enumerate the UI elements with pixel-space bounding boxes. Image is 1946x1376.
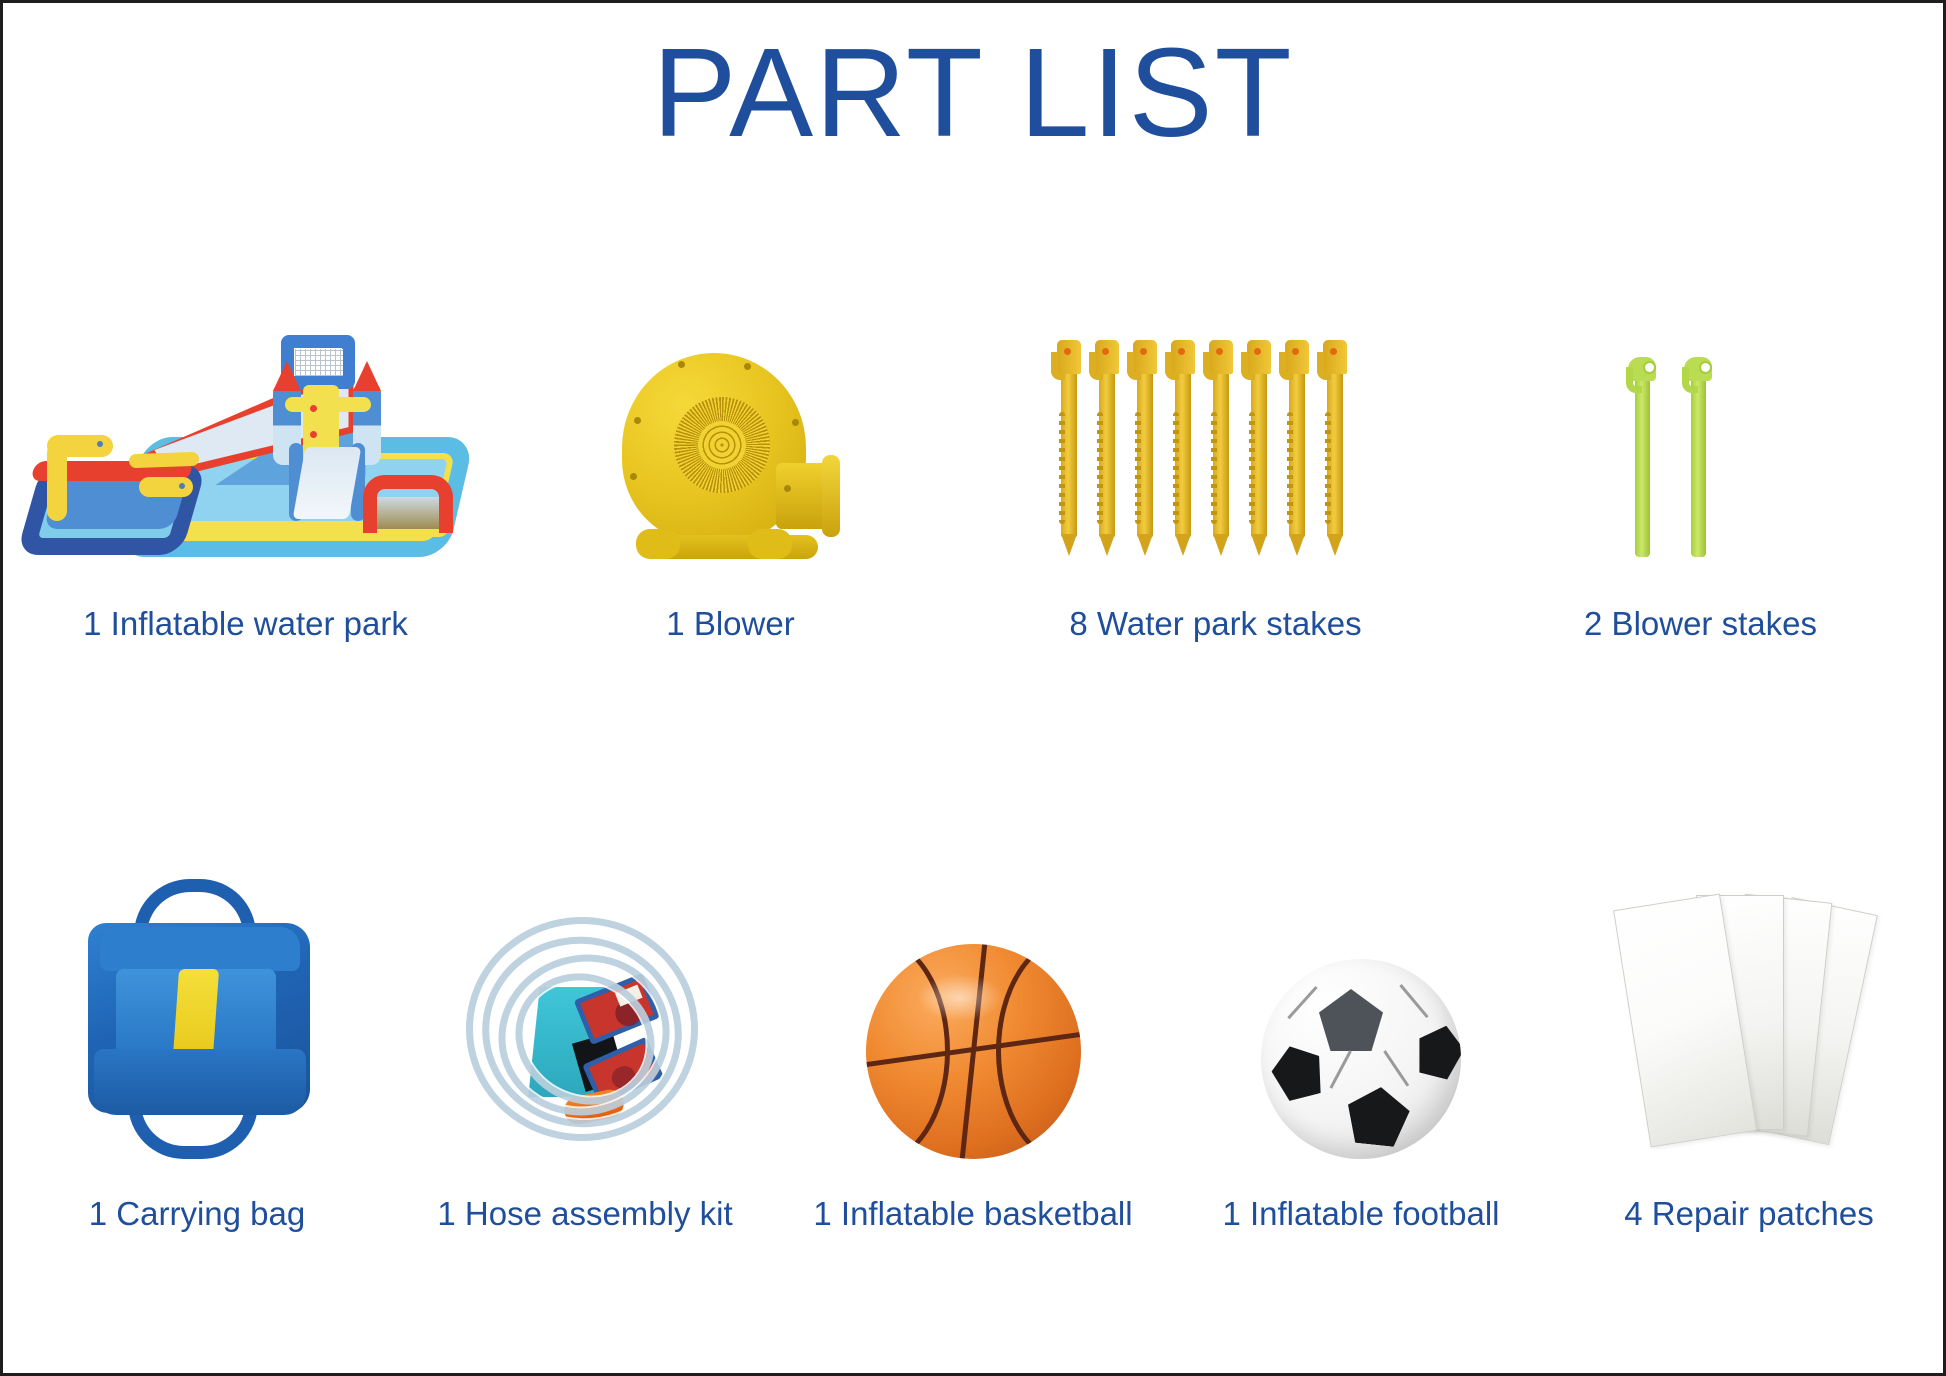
water-park-stake	[1051, 340, 1081, 555]
football-panel-left	[1266, 1039, 1330, 1106]
part-item-inflatable-football: 1 Inflatable football	[1167, 773, 1555, 1233]
tower-net	[295, 349, 343, 376]
part-item-hose-assembly-kit: 1 Hose assembly kit	[391, 773, 779, 1233]
blower-stakes-image	[1458, 275, 1943, 575]
hose-assembly-kit-image	[391, 829, 779, 1159]
water-park-stake	[1241, 340, 1271, 555]
basketball-highlight	[917, 974, 1003, 1021]
football-panel-center	[1319, 989, 1383, 1051]
part-item-repair-patches: 4 Repair patches	[1555, 773, 1943, 1233]
blower-image	[488, 275, 973, 575]
tower-spire-right	[353, 361, 381, 391]
part-label-water-park-stakes: 8 Water park stakes	[1069, 605, 1361, 643]
bag-front-panel	[94, 1049, 306, 1115]
part-label-blower: 1 Blower	[666, 605, 794, 643]
part-item-carrying-bag: 1 Carrying bag	[3, 773, 391, 1233]
part-label-inflatable-water-park: 1 Inflatable water park	[83, 605, 408, 643]
part-list-page: PART LIST	[0, 0, 1946, 1376]
giraffe-sprinkler	[47, 421, 119, 521]
water-park-stake	[1089, 340, 1119, 555]
basketball-image	[779, 829, 1167, 1159]
part-label-blower-stakes: 2 Blower stakes	[1584, 605, 1817, 643]
page-title: PART LIST	[3, 21, 1943, 166]
water-park-stake	[1165, 340, 1195, 555]
slide-chute	[292, 447, 361, 519]
part-item-water-park-stakes: 8 Water park stakes	[973, 223, 1458, 643]
basketball-sphere	[866, 944, 1081, 1159]
red-arch-goal	[363, 475, 453, 533]
parts-row-2: 1 Carrying bag 1 Hose assembly kit	[3, 773, 1943, 1233]
hose-coil	[466, 917, 698, 1141]
blower-foot-right	[748, 529, 792, 559]
water-park-stakes-group	[1051, 340, 1381, 575]
blower-bolt	[630, 473, 637, 480]
repair-patches-image	[1555, 829, 1943, 1159]
basketball-seam-curve	[866, 944, 950, 1159]
football-seam	[1383, 1050, 1409, 1086]
football-illustration	[1261, 959, 1461, 1159]
carrying-bag-illustration	[72, 879, 322, 1159]
blower-outlet-flange	[822, 455, 840, 537]
part-item-inflatable-water-park: 1 Inflatable water park	[3, 223, 488, 643]
water-park-stake	[1317, 340, 1347, 555]
part-item-blower: 1 Blower	[488, 223, 973, 643]
football-seam	[1399, 984, 1428, 1018]
basketball-seam-curve	[996, 944, 1081, 1159]
blower-grille	[674, 397, 770, 493]
inflatable-water-park-image	[3, 275, 488, 575]
blower-bolt	[744, 363, 751, 370]
water-park-stake	[1203, 340, 1233, 555]
blower-bolt	[792, 419, 799, 426]
blower-bolt	[784, 485, 791, 492]
part-label-inflatable-football: 1 Inflatable football	[1222, 1195, 1499, 1233]
blower-illustration	[616, 345, 846, 575]
bag-flap	[100, 927, 300, 971]
part-label-inflatable-basketball: 1 Inflatable basketball	[813, 1195, 1132, 1233]
basketball-illustration	[866, 944, 1081, 1159]
tower-spire-left	[273, 361, 301, 391]
blower-bolt	[634, 417, 641, 424]
water-park-illustration	[11, 325, 481, 575]
football-panel-right	[1411, 1020, 1461, 1082]
football-seam	[1329, 1050, 1351, 1088]
football-seam	[1287, 986, 1317, 1019]
goal-frame	[363, 475, 453, 533]
giraffe-head	[47, 435, 113, 457]
football-panel-bottom	[1344, 1084, 1412, 1148]
blower-foot-left	[636, 529, 680, 559]
blower-bolt	[678, 361, 685, 368]
part-item-inflatable-basketball: 1 Inflatable basketball	[779, 773, 1167, 1233]
blower-stake	[1682, 355, 1712, 560]
repair-patches-illustration	[1624, 879, 1874, 1159]
blower-stake	[1626, 355, 1656, 560]
water-jet-nozzle	[139, 477, 193, 497]
carrying-bag-image	[3, 829, 391, 1159]
bag-yellow-contents	[173, 969, 219, 1057]
football-image	[1167, 829, 1555, 1159]
parts-row-1: 1 Inflatable water park	[3, 223, 1943, 643]
water-park-stake	[1279, 340, 1309, 555]
water-park-stakes-image	[973, 275, 1458, 575]
part-label-repair-patches: 4 Repair patches	[1624, 1195, 1873, 1233]
part-label-hose-assembly-kit: 1 Hose assembly kit	[437, 1195, 732, 1233]
part-label-carrying-bag: 1 Carrying bag	[89, 1195, 305, 1233]
yellow-arch	[128, 452, 198, 468]
hose-kit-illustration	[460, 909, 710, 1159]
blower-stakes-group	[1626, 355, 1776, 575]
water-park-stake	[1127, 340, 1157, 555]
football-sphere	[1261, 959, 1461, 1159]
part-item-blower-stakes: 2 Blower stakes	[1458, 223, 1943, 643]
